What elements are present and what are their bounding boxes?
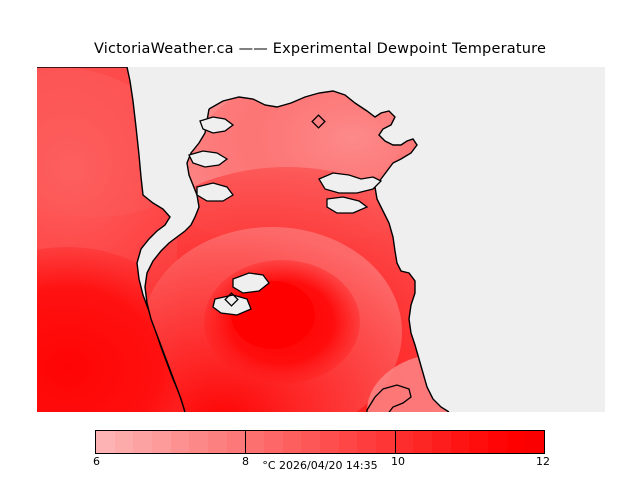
colorbar-step-18: [432, 431, 451, 453]
colorbar-step-11: [301, 431, 320, 453]
colorbar-step-8: [245, 431, 264, 453]
colorbar-step-21: [488, 431, 507, 453]
colorbar-tick-10: [395, 430, 396, 454]
colorbar-step-15: [376, 431, 395, 453]
colorbar-step-23: [525, 431, 544, 453]
colorbar-step-16: [395, 431, 414, 453]
colorbar-step-5: [189, 431, 208, 453]
map-svg: [37, 67, 605, 412]
colorbar-caption: °C 2026/04/20 14:35: [0, 459, 640, 472]
colorbar-step-12: [320, 431, 339, 453]
map-plot-area[interactable]: [37, 67, 605, 412]
colorbar-step-7: [227, 431, 246, 453]
colorbar[interactable]: 6 8 10 12: [95, 430, 545, 454]
colorbar-step-19: [451, 431, 470, 453]
colorbar-step-22: [507, 431, 526, 453]
colorbar-step-4: [171, 431, 190, 453]
colorbar-step-17: [413, 431, 432, 453]
weather-map-page: VictoriaWeather.ca —— Experimental Dewpo…: [0, 0, 640, 480]
colorbar-gradient: [95, 430, 545, 454]
colorbar-step-9: [264, 431, 283, 453]
colorbar-step-6: [208, 431, 227, 453]
colorbar-step-20: [469, 431, 488, 453]
colorbar-tick-8: [245, 430, 246, 454]
colorbar-step-0: [96, 431, 115, 453]
colorbar-step-14: [357, 431, 376, 453]
colorbar-step-3: [152, 431, 171, 453]
colorbar-step-10: [283, 431, 302, 453]
colorbar-step-1: [115, 431, 134, 453]
colorbar-step-2: [133, 431, 152, 453]
page-title: VictoriaWeather.ca —— Experimental Dewpo…: [0, 41, 640, 57]
colorbar-step-13: [339, 431, 358, 453]
